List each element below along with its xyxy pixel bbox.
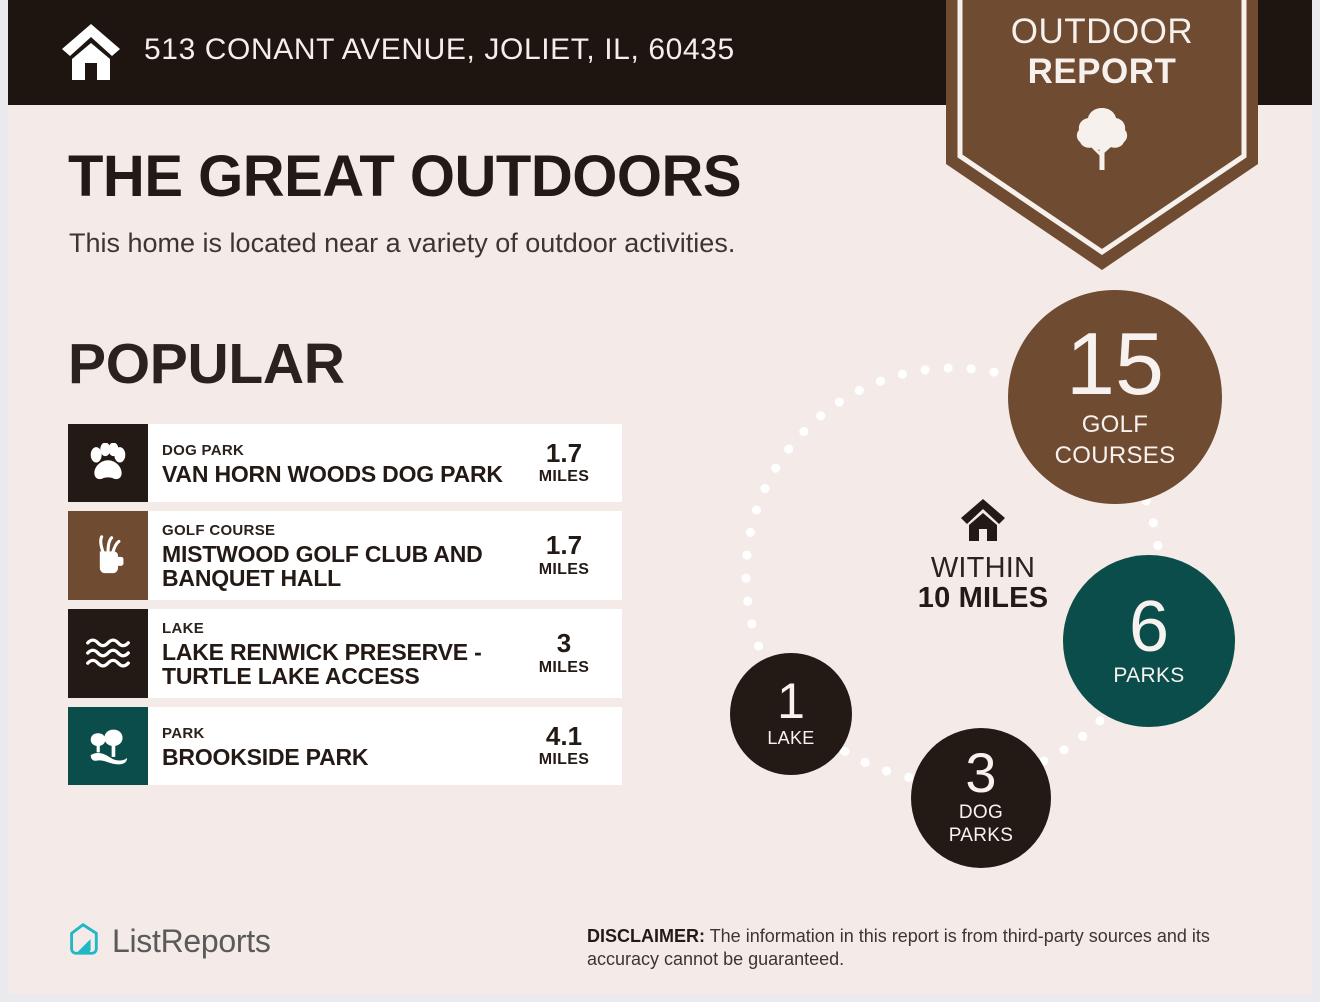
bubble-label-line2: PARKS [949, 826, 1014, 846]
list-item[interactable]: DOG PARK VAN HORN WOODS DOG PARK 1.7 MIL… [68, 424, 622, 502]
bubble-label-line1: GOLF [1082, 412, 1149, 437]
header-address: 513 CONANT AVENUE, JOLIET, IL, 60435 [144, 33, 735, 67]
home-icon [858, 498, 1108, 547]
distance-value: 3 [557, 630, 571, 657]
bubble-label-line1: LAKE [767, 729, 814, 748]
list-item-category: LAKE [162, 620, 514, 639]
report-page: 513 CONANT AVENUE, JOLIET, IL, 60435 OUT… [8, 0, 1312, 994]
list-item-distance: 4.1 MILES [518, 707, 622, 785]
page-title: THE GREAT OUTDOORS [68, 148, 741, 206]
disclaimer: DISCLAIMER: The information in this repo… [587, 925, 1277, 970]
listreports-logo[interactable]: ListReports [64, 920, 271, 963]
bubble-label-line1: PARKS [1113, 665, 1184, 687]
list-item-distance: 1.7 MILES [518, 424, 622, 502]
list-item-text: PARK BROOKSIDE PARK [148, 707, 518, 785]
tree-icon [1074, 106, 1130, 172]
golf-bag-icon [68, 511, 148, 600]
page-subtitle: This home is located near a variety of o… [69, 228, 735, 259]
house-tag-icon [64, 920, 102, 963]
bubble-lake[interactable]: 1 LAKE [730, 653, 852, 775]
home-icon [60, 22, 122, 82]
list-item[interactable]: GOLF COURSE MISTWOOD GOLF CLUB AND BANQU… [68, 511, 622, 600]
list-item-text: LAKE LAKE RENWICK PRESERVE - TURTLE LAKE… [148, 609, 518, 698]
paw-print-icon [68, 424, 148, 502]
bubble-count: 3 [965, 746, 996, 799]
list-item-name: BROOKSIDE PARK [162, 745, 514, 770]
distance-value: 1.7 [546, 532, 582, 559]
bubble-count: 6 [1129, 593, 1169, 661]
bubble-count: 1 [777, 678, 805, 726]
distance-value: 1.7 [546, 440, 582, 467]
list-item-text: GOLF COURSE MISTWOOD GOLF CLUB AND BANQU… [148, 511, 518, 600]
distance-unit: MILES [539, 467, 589, 486]
within-label: WITHIN [858, 553, 1108, 583]
waves-icon [68, 609, 148, 698]
list-item-name: VAN HORN WOODS DOG PARK [162, 462, 514, 487]
badge-line-2: REPORT [946, 54, 1258, 89]
disclaimer-label: DISCLAIMER: [587, 926, 705, 946]
bubble-dog-parks[interactable]: 3 DOG PARKS [911, 728, 1051, 868]
bubble-count: 15 [1066, 322, 1164, 406]
radius-label: 10 MILES [858, 583, 1108, 615]
popular-heading: POPULAR [68, 336, 345, 393]
distance-value: 4.1 [546, 723, 582, 750]
bubble-golf-courses[interactable]: 15 GOLF COURSES [1008, 290, 1222, 504]
distance-unit: MILES [539, 750, 589, 769]
diagram-center-label: WITHIN 10 MILES [858, 498, 1108, 615]
distance-unit: MILES [539, 560, 589, 579]
list-item[interactable]: LAKE LAKE RENWICK PRESERVE - TURTLE LAKE… [68, 609, 622, 698]
list-item-name: LAKE RENWICK PRESERVE - TURTLE LAKE ACCE… [162, 640, 514, 689]
list-item-distance: 3 MILES [518, 609, 622, 698]
popular-list: DOG PARK VAN HORN WOODS DOG PARK 1.7 MIL… [68, 424, 622, 794]
list-item-category: DOG PARK [162, 442, 514, 461]
list-item-text: DOG PARK VAN HORN WOODS DOG PARK [148, 424, 518, 502]
list-item-category: GOLF COURSE [162, 522, 514, 541]
list-item-distance: 1.7 MILES [518, 511, 622, 600]
outdoor-report-badge: OUTDOOR REPORT [946, 0, 1258, 270]
list-item[interactable]: PARK BROOKSIDE PARK 4.1 MILES [68, 707, 622, 785]
park-trees-icon [68, 707, 148, 785]
bubble-label-line2: COURSES [1055, 443, 1176, 468]
outdoor-bubble-chart: 15 GOLF COURSES 6 PARKS 3 DOG PARKS 1 LA… [708, 280, 1268, 870]
bubble-label-line1: DOG [959, 803, 1003, 823]
list-item-name: MISTWOOD GOLF CLUB AND BANQUET HALL [162, 542, 514, 591]
badge-line-1: OUTDOOR [946, 14, 1258, 49]
distance-unit: MILES [539, 658, 589, 677]
list-item-category: PARK [162, 725, 514, 744]
logo-text: ListReports [112, 923, 271, 960]
